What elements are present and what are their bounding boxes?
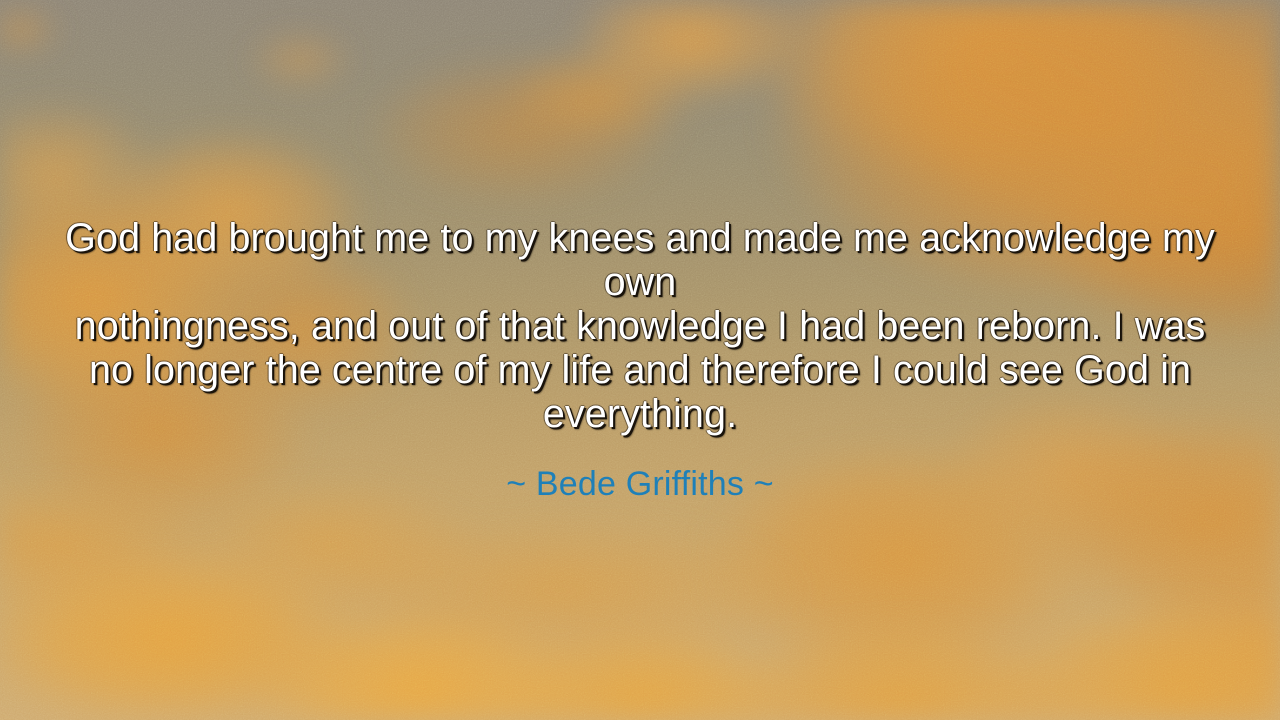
quote-line: no longer the centre of my life and ther… [45,348,1235,392]
text-content: God had brought me to my knees and made … [0,0,1280,720]
quote-line: everything. [45,392,1235,436]
quote-line: God had brought me to my knees and made … [45,216,1235,304]
quote-card: God had brought me to my knees and made … [0,0,1280,720]
quote-line: nothingness, and out of that knowledge I… [45,304,1235,348]
quote-text: God had brought me to my knees and made … [45,216,1235,436]
quote-attribution: ~ Bede Griffiths ~ [506,464,774,504]
